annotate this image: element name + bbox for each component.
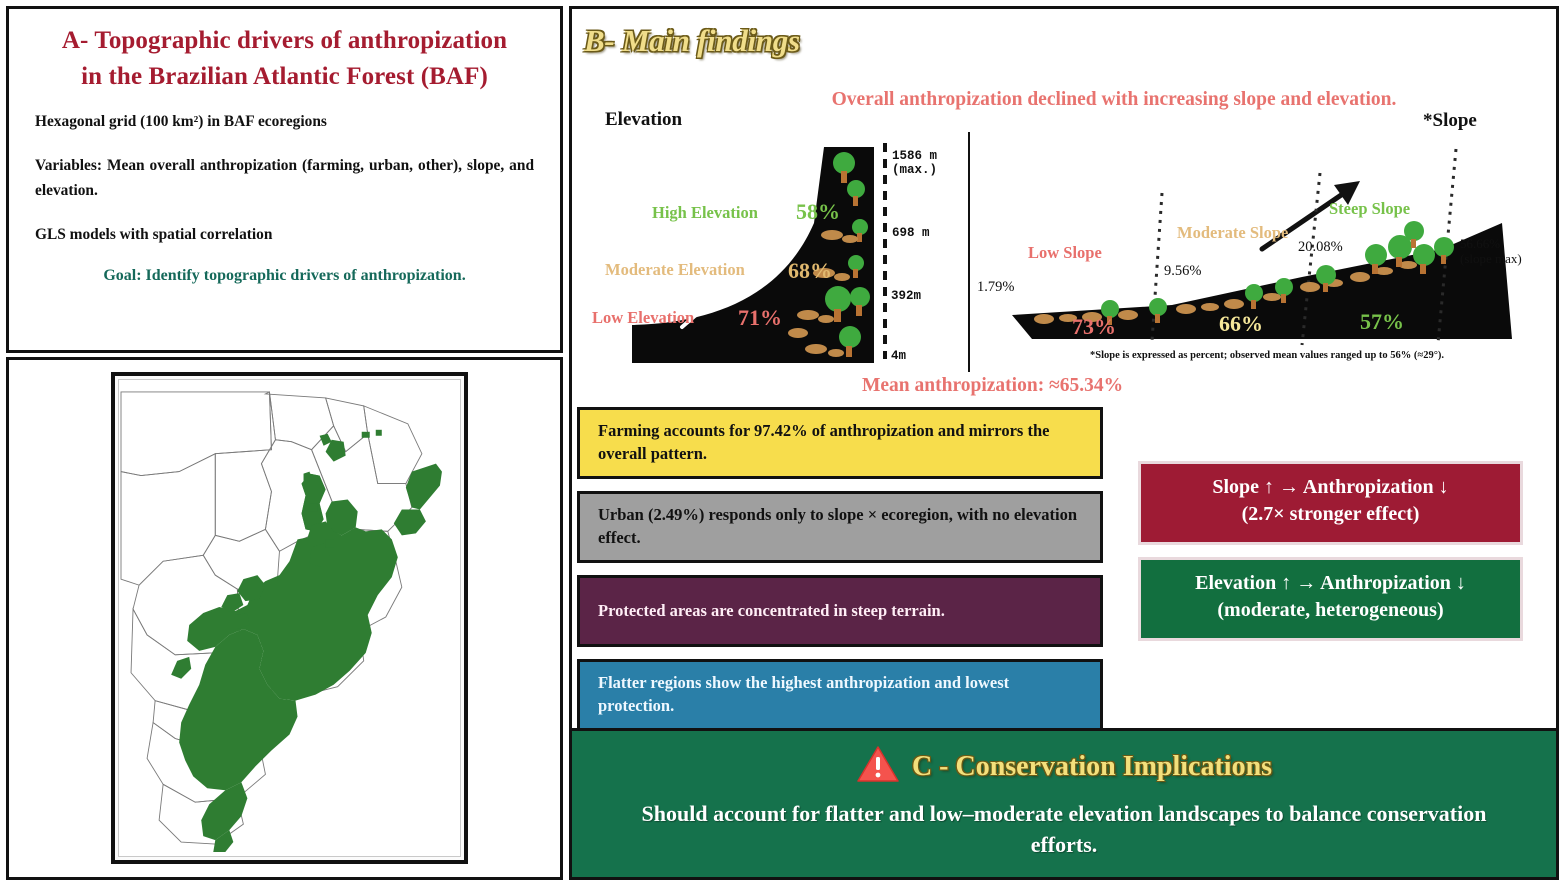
slope-anthropization-chart: Low Slope Moderate Slope Steep Slope 73%… bbox=[972, 127, 1550, 382]
panel-a-goal: Goal: Identify topographic drivers of an… bbox=[35, 267, 534, 285]
infographic-root: A- Topographic drivers of anthropization… bbox=[0, 0, 1565, 886]
panel-a-title-line1: A- Topographic drivers of anthropization bbox=[21, 23, 548, 59]
slope-boundary-label-5666: 56.66% (slope max) bbox=[1460, 237, 1522, 266]
finding-box-protected-areas[interactable]: Protected areas are concentrated in stee… bbox=[577, 575, 1103, 647]
slope-band-label-moderate: Moderate Slope bbox=[1177, 223, 1288, 243]
finding-box-farming[interactable]: Farming accounts for 97.42% of anthropiz… bbox=[577, 407, 1103, 479]
slope-band-label-steep: Steep Slope bbox=[1329, 199, 1410, 219]
chart-divider bbox=[968, 132, 970, 372]
elevation-band-label-moderate: Moderate Elevation bbox=[605, 260, 745, 280]
slope-boundary-label-2008: 20.08% bbox=[1298, 239, 1343, 255]
panel-a-map-container bbox=[6, 357, 563, 880]
slope-band-label-low: Low Slope bbox=[1028, 243, 1102, 263]
elevation-band-pct-moderate: 68% bbox=[788, 258, 832, 284]
elevation-band-label-low: Low Elevation bbox=[592, 308, 694, 328]
conclusion-elevation-line1: Elevation ↑ → Anthropization ↓ bbox=[1141, 570, 1520, 597]
panel-c-body: Should account for flatter and low–moder… bbox=[629, 798, 1499, 860]
map-frame bbox=[111, 372, 468, 864]
elevation-band-label-high: High Elevation bbox=[652, 203, 758, 223]
panel-c-title-row: C - Conservation Implications bbox=[572, 744, 1556, 789]
finding-box-urban[interactable]: Urban (2.49%) responds only to slope × e… bbox=[577, 491, 1103, 563]
slope-band-pct-low: 73% bbox=[1072, 314, 1116, 340]
elevation-axis-tick-1586: 1586 m (max.) bbox=[892, 149, 937, 178]
panel-a-title-line2: in the Brazilian Atlantic Forest (BAF) bbox=[21, 59, 548, 95]
panel-a-title: A- Topographic drivers of anthropization… bbox=[9, 9, 560, 94]
panel-b-title: B- Main findings bbox=[584, 23, 800, 59]
elevation-axis-tick-392: 392m bbox=[891, 289, 921, 303]
conclusion-slope-line1: Slope ↑ → Anthropization ↓ bbox=[1141, 474, 1520, 501]
brazilian-atlantic-forest-extent-map bbox=[118, 379, 461, 857]
slope-footnote: *Slope is expressed as percent; observed… bbox=[1027, 350, 1507, 361]
finding-box-flatter-regions[interactable]: Flatter regions show the highest anthrop… bbox=[577, 659, 1103, 731]
panel-a-bullet-variables: Variables: Mean overall anthropization (… bbox=[35, 154, 534, 204]
mean-anthropization-label: Mean anthropization: ≈65.34% bbox=[862, 375, 1123, 397]
elevation-band-pct-high: 58% bbox=[796, 199, 840, 225]
slope-band-pct-steep: 57% bbox=[1360, 309, 1404, 335]
slope-boundary-label-956: 9.56% bbox=[1164, 263, 1201, 279]
elevation-axis-tick-4: 4m bbox=[891, 349, 906, 363]
conclusion-elevation-line2: (moderate, heterogeneous) bbox=[1141, 597, 1520, 624]
warning-triangle-icon bbox=[856, 744, 900, 789]
elevation-axis-tick-698: 698 m bbox=[892, 226, 930, 240]
panel-a-bullet-grid: Hexagonal grid (100 km²) in BAF ecoregio… bbox=[35, 110, 534, 135]
panel-c-conservation-implications: C - Conservation Implications Should acc… bbox=[569, 728, 1559, 880]
panel-a-bullet-models: GLS models with spatial correlation bbox=[35, 223, 534, 248]
panel-a-overview: A- Topographic drivers of anthropization… bbox=[6, 6, 563, 353]
panel-b-headline: Overall anthropization declined with inc… bbox=[764, 89, 1464, 111]
slope-band-pct-moderate: 66% bbox=[1219, 311, 1263, 337]
panel-c-title: C - Conservation Implications bbox=[912, 751, 1272, 783]
slope-boundary-label-179: 1.79% bbox=[977, 279, 1014, 295]
panel-a-body: Hexagonal grid (100 km²) in BAF ecoregio… bbox=[9, 110, 560, 285]
conclusion-box-elevation[interactable]: Elevation ↑ → Anthropization ↓ (moderate… bbox=[1138, 557, 1523, 641]
elevation-anthropization-chart: High Elevation 58% Moderate Elevation 68… bbox=[592, 127, 1012, 377]
conclusion-slope-line2: (2.7× stronger effect) bbox=[1141, 501, 1520, 528]
conclusion-box-slope[interactable]: Slope ↑ → Anthropization ↓ (2.7× stronge… bbox=[1138, 461, 1523, 545]
elevation-band-pct-low: 71% bbox=[738, 305, 782, 331]
